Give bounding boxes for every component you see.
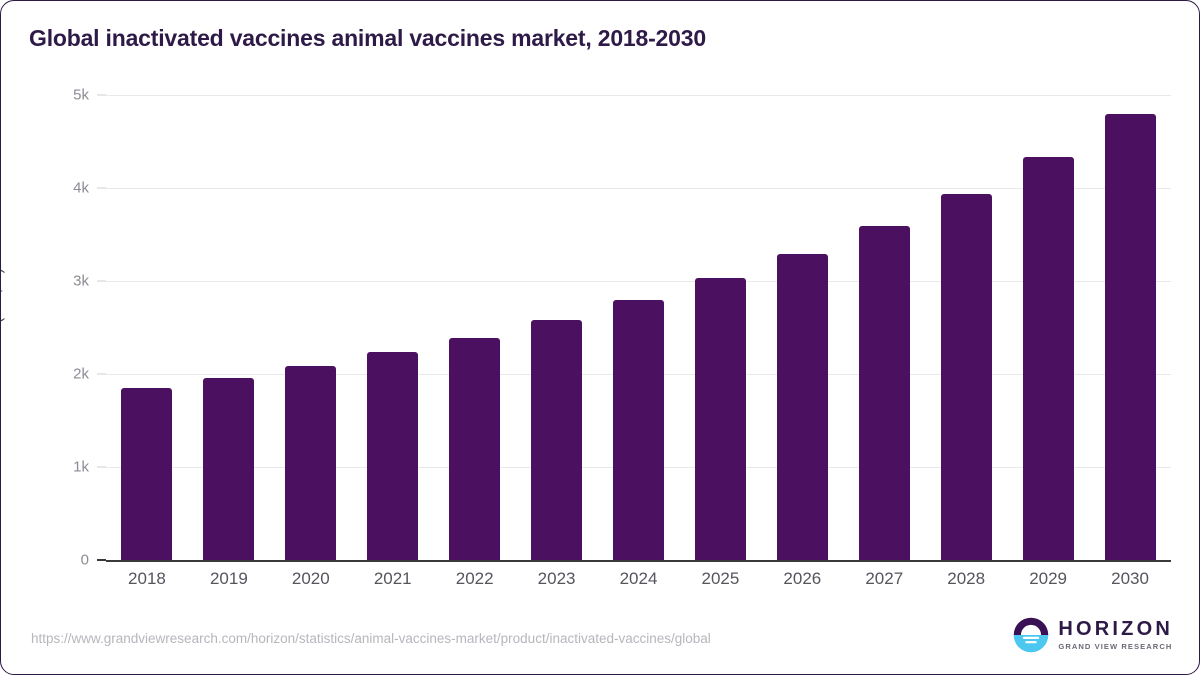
x-axis-tick-label: 2029 — [1007, 569, 1089, 589]
gridline — [106, 95, 1171, 96]
logo-wordmark: HORIZON — [1058, 619, 1173, 639]
horizon-sunrise-circle-icon — [1013, 617, 1049, 653]
x-axis-tick-label: 2022 — [434, 569, 516, 589]
y-axis-tick-label: 0 — [29, 552, 89, 569]
bar[interactable] — [695, 278, 746, 560]
y-axis-tick-mark — [97, 188, 106, 189]
bar[interactable] — [367, 352, 418, 560]
y-axis-tick-mark — [97, 374, 106, 375]
y-axis-tick-mark — [97, 281, 106, 282]
logo-text: HORIZON GRAND VIEW RESEARCH — [1058, 619, 1173, 651]
y-axis-tick-label: 2k — [29, 366, 89, 383]
x-axis-tick-label: 2021 — [352, 569, 434, 589]
logo-tagline: GRAND VIEW RESEARCH — [1058, 643, 1173, 651]
plot-area — [106, 95, 1171, 560]
source-url[interactable]: https://www.grandviewresearch.com/horizo… — [31, 631, 711, 646]
bar[interactable] — [777, 254, 828, 560]
bar[interactable] — [1023, 157, 1074, 560]
bar[interactable] — [449, 338, 500, 560]
bar[interactable] — [285, 366, 336, 560]
x-axis-tick-label: 2025 — [679, 569, 761, 589]
x-axis-line — [106, 560, 1171, 562]
y-axis-tick-label: 4k — [29, 180, 89, 197]
y-axis-tick-mark — [97, 95, 106, 96]
x-axis-tick-label: 2027 — [843, 569, 925, 589]
y-axis-tick-mark — [97, 559, 106, 561]
chart-card: Global inactivated vaccines animal vacci… — [0, 0, 1200, 675]
bar[interactable] — [531, 320, 582, 560]
x-axis-tick-label: 2028 — [925, 569, 1007, 589]
x-axis-tick-label: 2019 — [188, 569, 270, 589]
y-axis-title: Market Size (US$M) — [0, 190, 6, 490]
bar[interactable] — [1105, 114, 1156, 560]
x-axis-tick-label: 2023 — [516, 569, 598, 589]
x-axis-tick-label: 2026 — [761, 569, 843, 589]
x-axis-tick-label: 2024 — [598, 569, 680, 589]
bar[interactable] — [859, 226, 910, 560]
bar[interactable] — [121, 388, 172, 560]
x-axis-tick-label: 2018 — [106, 569, 188, 589]
page-title: Global inactivated vaccines animal vacci… — [29, 25, 706, 52]
bar[interactable] — [613, 300, 664, 560]
y-axis-tick-label: 5k — [29, 87, 89, 104]
y-axis-tick-mark — [97, 467, 106, 468]
y-axis-tick-label: 1k — [29, 459, 89, 476]
bar[interactable] — [941, 194, 992, 560]
gridline — [106, 188, 1171, 189]
gridline — [106, 281, 1171, 282]
x-axis-tick-label: 2020 — [270, 569, 352, 589]
x-axis-tick-label: 2030 — [1089, 569, 1171, 589]
bar[interactable] — [203, 378, 254, 560]
horizon-logo: HORIZON GRAND VIEW RESEARCH — [1013, 617, 1173, 653]
y-axis-tick-label: 3k — [29, 273, 89, 290]
